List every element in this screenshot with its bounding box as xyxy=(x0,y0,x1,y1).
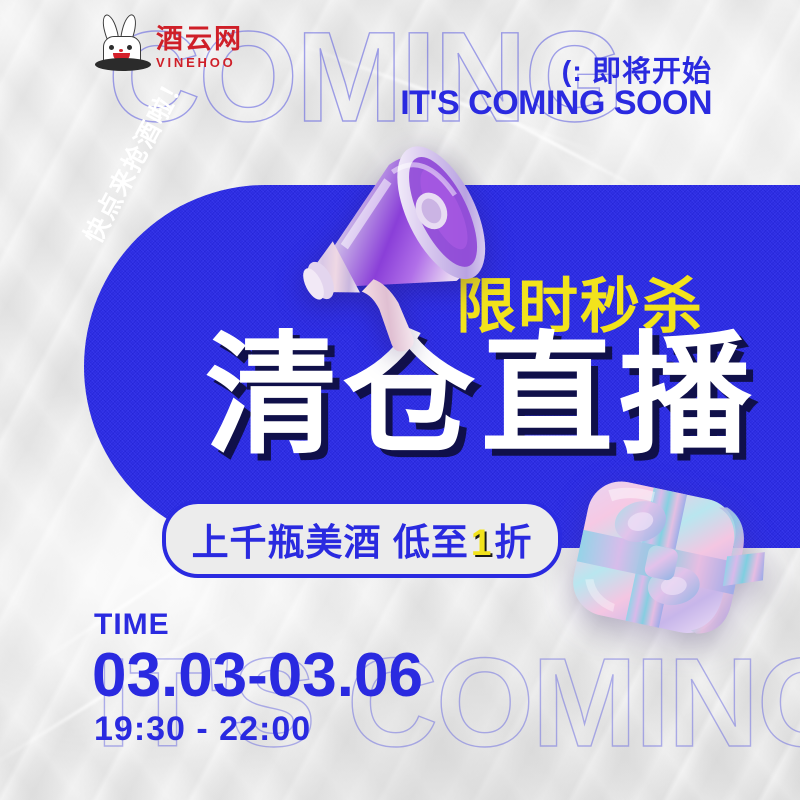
gift-box-icon xyxy=(556,455,771,655)
brand-text: 酒云网 VINEHOO xyxy=(156,26,243,69)
brand-name-en: VINEHOO xyxy=(156,56,236,69)
megaphone-icon xyxy=(272,128,507,353)
time-label: TIME xyxy=(94,608,170,642)
offer-highlight-discount: 1 xyxy=(471,522,493,564)
offer-pill-text: 上千瓶美酒 低至 1 折 xyxy=(192,512,533,566)
rabbit-eye-left xyxy=(109,45,114,50)
event-date-range: 03.03-03.06 xyxy=(92,640,423,711)
coming-soon-en-label: IT'S COMING SOON xyxy=(400,84,712,123)
rabbit-hole xyxy=(95,58,151,71)
rabbit-eye-right xyxy=(127,45,132,50)
brand-logo[interactable]: 酒云网 VINEHOO xyxy=(96,14,243,76)
rabbit-nose xyxy=(119,49,123,52)
offer-prefix: 上千瓶美酒 低至 xyxy=(192,512,469,566)
offer-pill-badge[interactable]: 上千瓶美酒 低至 1 折 xyxy=(162,500,562,578)
rabbit-mascot-icon xyxy=(96,14,150,76)
brand-name-cn: 酒云网 xyxy=(156,26,243,53)
promo-poster: COMING IT'S COMING 酒云网 VINEHOO (: 即将开始 I… xyxy=(0,0,800,800)
event-hours: 19:30 - 22:00 xyxy=(94,710,311,749)
offer-suffix: 折 xyxy=(494,512,532,566)
